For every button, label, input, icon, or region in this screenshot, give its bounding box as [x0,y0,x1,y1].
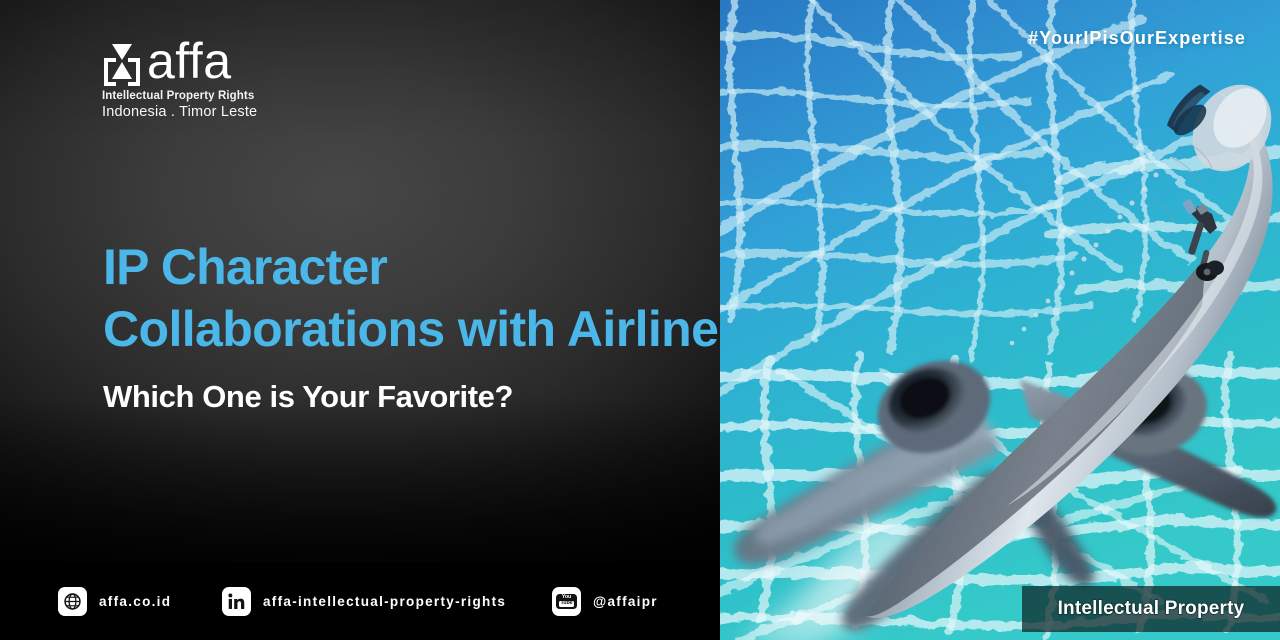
intellectual-property-badge: Intellectual Property [1022,586,1280,632]
headline-line-1: IP Character [103,236,720,298]
headline-block: IP Character Collaborations with Airline… [103,236,720,418]
logo-regions: Indonesia . Timor Leste [102,104,257,120]
headline-subline: Which One is Your Favorite? [103,376,720,418]
left-content-panel: affa Intellectual Property Rights Indone… [0,0,720,640]
social-link-website[interactable]: affa.co.id [58,587,171,616]
airplane-image-panel: #YourIPisOurExpertise Intellectual Prope… [720,0,1280,640]
social-label-youtube: @affaipr [593,594,658,609]
logo-wordmark: affa [147,36,232,86]
globe-icon [58,587,87,616]
affa-hourglass-bracket-icon [101,38,143,88]
youtube-icon: You Tube [552,587,581,616]
social-link-youtube[interactable]: You Tube @affaipr [552,587,658,616]
airplane-illustration [720,0,1280,640]
landing-gear [1182,198,1224,281]
linkedin-icon [222,587,251,616]
social-label-website: affa.co.id [99,594,171,609]
hashtag-text: #YourIPisOurExpertise [1028,28,1246,49]
footer-social-bar: affa.co.id affa-intellectual-property-ri… [0,562,720,640]
social-label-linkedin: affa-intellectual-property-rights [263,594,506,609]
social-link-linkedin[interactable]: affa-intellectual-property-rights [222,587,506,616]
brand-logo-lockup[interactable]: affa Intellectual Property Rights Indone… [101,38,257,120]
promo-banner: affa Intellectual Property Rights Indone… [0,0,1280,640]
headline-line-2: Collaborations with Airlines [103,298,720,360]
youtube-icon-inner: You Tube [556,594,577,609]
logo-tagline: Intellectual Property Rights [102,90,257,102]
logo-row: affa [101,38,257,88]
youtube-icon-text-tube: Tube [559,601,574,607]
intellectual-property-badge-label: Intellectual Property [1058,598,1245,620]
